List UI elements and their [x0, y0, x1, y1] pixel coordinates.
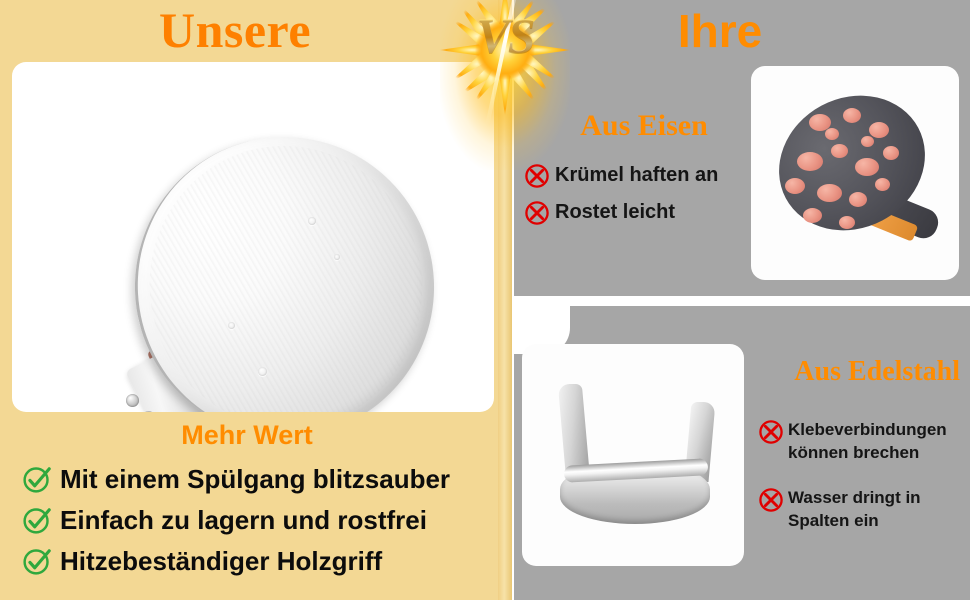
check-circle-icon [22, 464, 52, 494]
check-circle-icon [22, 505, 52, 535]
water-droplet-icon [258, 367, 267, 376]
theirs-heading: Ihre [600, 4, 840, 58]
water-droplet-icon [334, 254, 340, 260]
ours-product-card [12, 62, 494, 412]
meat-crumb [785, 178, 805, 194]
list-item: Krümel haften an [524, 162, 754, 189]
rivet-icon [126, 394, 139, 407]
list-item: Klebeverbindungen können brechen [758, 418, 964, 464]
theirs-iron-drawback-list: Krümel haften an Rostet leicht [524, 162, 754, 236]
list-item: Mit einem Spülgang blitzsauber [22, 458, 496, 499]
list-item-label: Mit einem Spülgang blitzsauber [60, 464, 450, 494]
x-circle-icon [758, 487, 784, 513]
meat-crumb [883, 146, 899, 160]
vs-badge: VS [437, 0, 573, 118]
list-item-label: Einfach zu lagern und rostfrei [60, 505, 427, 535]
x-circle-icon [758, 419, 784, 445]
theirs-iron-product-image [751, 66, 959, 280]
meat-crumb [825, 128, 839, 140]
water-droplet-icon [228, 322, 235, 329]
list-item: Wasser dringt in Spalten ein [758, 486, 964, 532]
meat-crumb [861, 136, 874, 147]
meat-crumb [855, 158, 879, 176]
list-item-label: Rostet leicht [555, 199, 675, 225]
list-item: Hitzebeständiger Holzgriff [22, 540, 496, 581]
ours-product-image [12, 62, 494, 412]
meat-crumb [797, 152, 823, 171]
theirs-stainless-drawback-list: Klebeverbindungen können brechen Wasser … [758, 418, 964, 554]
check-circle-icon [22, 546, 52, 576]
press-disc-shape [103, 105, 466, 412]
vs-label: VS [437, 8, 573, 62]
list-item-label: Klebeverbindungen können brechen [788, 418, 947, 464]
list-item-label: Hitzebeständiger Holzgriff [60, 546, 382, 576]
meat-crumb [843, 108, 861, 123]
meat-crumb [839, 216, 855, 229]
meat-crumb [817, 184, 842, 202]
list-item-label: Krümel haften an [555, 162, 718, 188]
meat-crumb [803, 208, 822, 223]
meat-crumb [831, 144, 848, 158]
theirs-stainless-subheading: Aus Edelstahl [700, 355, 968, 389]
list-item-label: Wasser dringt in Spalten ein [788, 486, 921, 532]
comparison-infographic: Unsere Mehr Wert Mit einem Spülgang blit… [0, 0, 970, 600]
x-circle-icon [524, 200, 550, 226]
x-circle-icon [524, 163, 550, 189]
meat-crumb [849, 192, 867, 207]
meat-crumb [869, 122, 889, 138]
water-droplet-icon [308, 217, 316, 225]
list-item: Einfach zu lagern und rostfrei [22, 499, 496, 540]
ours-heading: Unsere [0, 2, 470, 58]
list-item: Rostet leicht [524, 199, 754, 226]
ours-benefit-list: Mit einem Spülgang blitzsauber Einfach z… [22, 458, 496, 581]
ours-subheading: Mehr Wert [0, 418, 494, 452]
meat-crumb [875, 178, 890, 191]
